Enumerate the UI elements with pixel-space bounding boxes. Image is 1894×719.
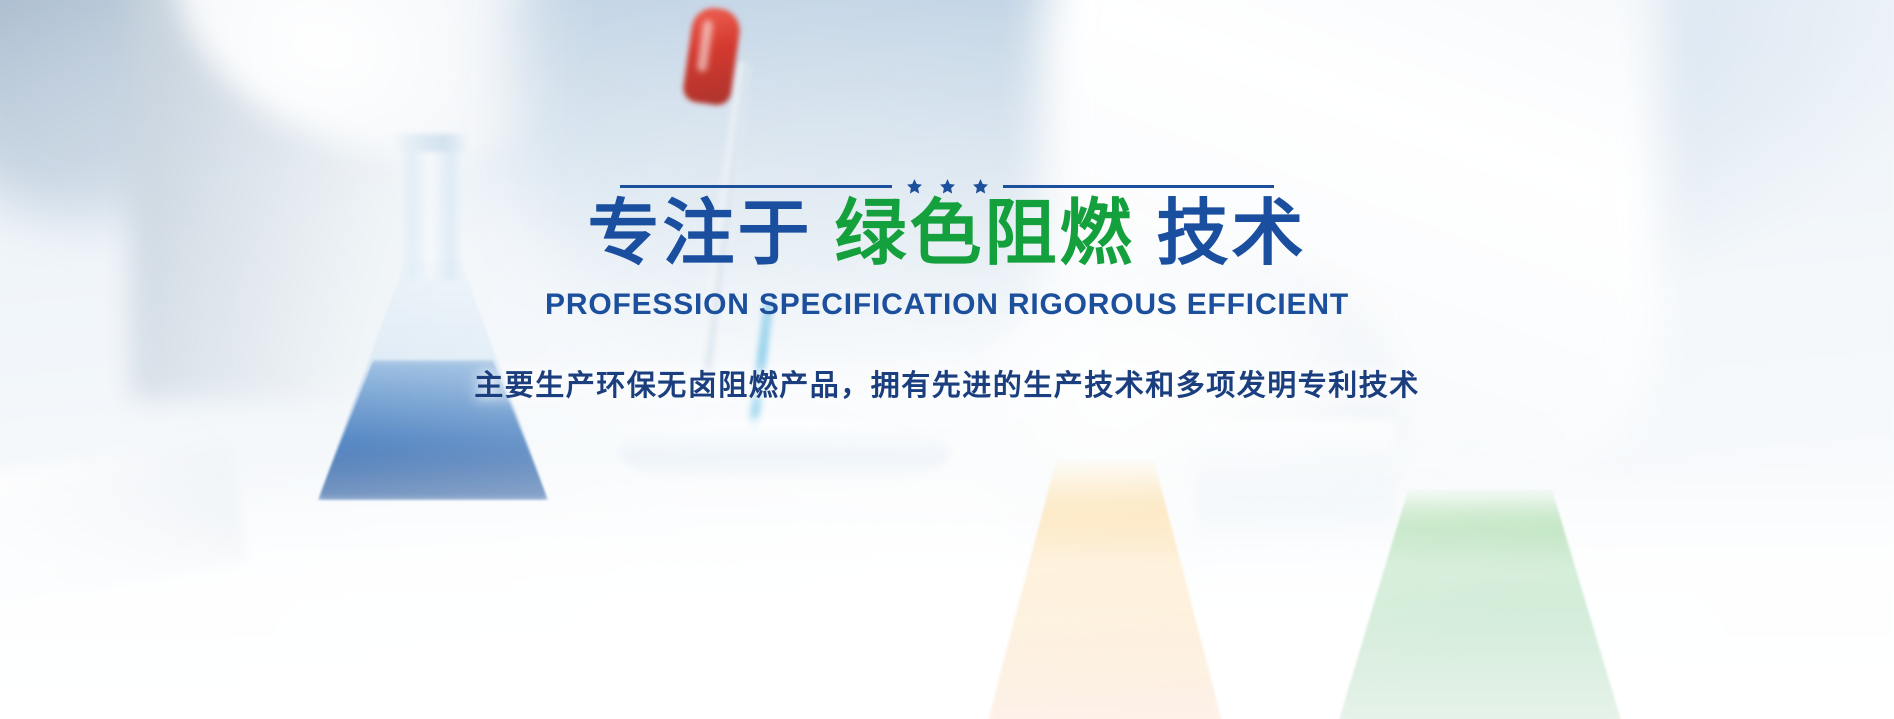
hero-banner: 专注于绿色阻燃技术 PROFESSION SPECIFICATION RIGOR… (0, 0, 1894, 719)
divider-line-left (620, 185, 892, 188)
divider-line-right (1003, 185, 1275, 188)
tagline: 主要生产环保无卤阻燃产品，拥有先进的生产技术和多项发明专利技术 (474, 362, 1420, 404)
page-title: 专注于绿色阻燃技术 (587, 196, 1306, 271)
subtitle-english: PROFESSION SPECIFICATION RIGOROUS EFFICI… (545, 288, 1349, 322)
title-part-focus: 专注于 (587, 191, 812, 275)
banner-content: 专注于绿色阻燃技术 PROFESSION SPECIFICATION RIGOR… (0, 0, 1894, 719)
title-part-technology: 技术 (1157, 191, 1307, 275)
title-part-green-flame: 绿色阻燃 (834, 191, 1134, 275)
